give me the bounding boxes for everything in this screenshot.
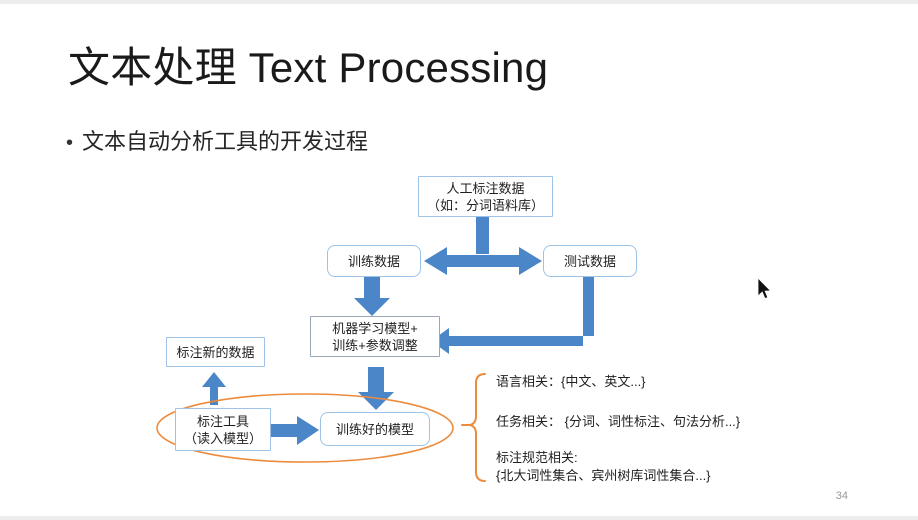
arrow-trained-model-to-tool	[271, 416, 319, 445]
annotation-task-related-line-1: 任务相关： {分词、词性标注、句法分析...}	[496, 413, 740, 431]
node-test-data-line-1: 测试数据	[564, 253, 616, 270]
annotation-task-related: 任务相关： {分词、词性标注、句法分析...}	[496, 413, 740, 431]
curly-brace-icon	[470, 374, 485, 481]
node-ml-model-line-2: 训练+参数调整	[332, 337, 418, 354]
annotation-spec-related: 标注规范相关: {北大词性集合、宾州树库词性集合...}	[496, 449, 711, 485]
node-annotate-new-data[interactable]: 标注新的数据	[166, 337, 265, 367]
node-annotation-tool-line-2: （读入模型）	[184, 430, 262, 447]
workflow-diagram: 人工标注数据 （如：分词语料库） 训练数据 测试数据 机器学习模型+ 训练+参数…	[0, 0, 918, 520]
node-manual-annotated-data-line-1: 人工标注数据	[446, 180, 524, 197]
node-trained-model[interactable]: 训练好的模型	[320, 412, 430, 446]
slide-canvas: 文本处理 Text Processing • 文本自动分析工具的开发过程	[0, 0, 918, 520]
annotation-language-related: 语言相关：{中文、英文...}	[496, 373, 646, 391]
node-training-data[interactable]: 训练数据	[327, 245, 421, 277]
node-manual-annotated-data-line-2: （如：分词语料库）	[427, 197, 544, 214]
annotation-spec-related-line-2: {北大词性集合、宾州树库词性集合...}	[496, 467, 711, 485]
arrow-model-to-trained-model	[358, 367, 394, 410]
page-number: 34	[836, 490, 848, 502]
arrow-training-data-to-model	[354, 276, 390, 316]
node-manual-annotated-data[interactable]: 人工标注数据 （如：分词语料库）	[418, 176, 553, 217]
annotation-language-related-line-1: 语言相关：{中文、英文...}	[496, 373, 646, 391]
arrow-stem-manual-to-split	[476, 216, 489, 254]
node-ml-model-line-1: 机器学习模型+	[332, 320, 418, 337]
arrow-test-data-to-model	[431, 276, 594, 354]
node-annotate-new-data-line-1: 标注新的数据	[176, 344, 254, 361]
node-annotation-tool[interactable]: 标注工具 （读入模型）	[175, 408, 271, 451]
diagram-vectors	[0, 0, 918, 520]
annotation-spec-related-line-1: 标注规范相关:	[496, 449, 711, 467]
node-trained-model-line-1: 训练好的模型	[336, 421, 414, 438]
node-ml-model[interactable]: 机器学习模型+ 训练+参数调整	[310, 316, 440, 357]
node-annotation-tool-line-1: 标注工具	[197, 413, 249, 430]
node-training-data-line-1: 训练数据	[348, 253, 400, 270]
node-test-data[interactable]: 测试数据	[543, 245, 637, 277]
